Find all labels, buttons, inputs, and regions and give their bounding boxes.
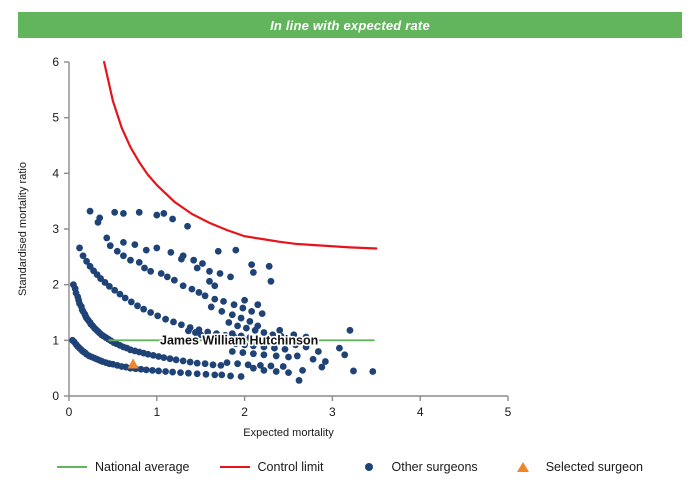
- scatter-point: [211, 296, 218, 303]
- scatter-point: [167, 249, 174, 256]
- scatter-point: [153, 245, 160, 252]
- scatter-point: [158, 270, 165, 277]
- scatter-point: [241, 297, 248, 304]
- green-line-icon: [57, 466, 87, 468]
- y-tick-label: 0: [52, 389, 59, 403]
- scatter-point: [147, 309, 154, 316]
- scatter-point: [177, 369, 184, 376]
- scatter-point: [171, 277, 178, 284]
- red-line-icon: [220, 466, 250, 468]
- scatter-point: [211, 371, 218, 378]
- selected-surgeon-marker[interactable]: [127, 358, 138, 368]
- legend-label-other-surgeons: Other surgeons: [392, 460, 478, 474]
- scatter-point: [210, 361, 217, 368]
- scatter-point: [369, 368, 376, 375]
- scatter-point: [248, 308, 255, 315]
- scatter-point: [215, 248, 222, 255]
- scatter-point: [162, 368, 169, 375]
- status-banner-label: In line with expected rate: [270, 18, 430, 33]
- scatter-point: [136, 209, 143, 216]
- scatter-point: [149, 367, 156, 374]
- scatter-point: [254, 301, 261, 308]
- scatter-point: [218, 371, 225, 378]
- scatter-point: [211, 282, 218, 289]
- control-limit-curve: [104, 62, 376, 248]
- scatter-point: [259, 310, 266, 317]
- scatter-point: [160, 210, 167, 217]
- scatter-point: [224, 359, 231, 366]
- scatter-point: [190, 257, 197, 264]
- scatter-point: [248, 261, 255, 268]
- scatter-point: [232, 247, 239, 254]
- legend-label-national-average: National average: [95, 460, 190, 474]
- x-tick-label: 5: [505, 405, 512, 419]
- scatter-point: [280, 363, 287, 370]
- x-tick-label: 3: [329, 405, 336, 419]
- annotation-label: James William Hutchinson: [160, 333, 318, 347]
- scatter-point: [220, 298, 227, 305]
- scatter-point: [208, 304, 215, 311]
- scatter-point: [87, 208, 94, 215]
- scatter-point: [238, 373, 245, 380]
- legend-item-control-limit[interactable]: Control limit: [220, 460, 324, 474]
- scatter-point: [250, 365, 257, 372]
- scatter-point: [134, 302, 141, 309]
- scatter-point: [261, 351, 268, 358]
- scatter-point: [180, 252, 187, 259]
- scatter-point: [296, 377, 303, 384]
- scatter-point: [128, 299, 135, 306]
- legend-label-control-limit: Control limit: [258, 460, 324, 474]
- selected-surgeon-triangle[interactable]: [127, 358, 138, 368]
- navy-dot-icon: [365, 463, 373, 471]
- x-axis-title: Expected mortality: [243, 427, 334, 439]
- scatter-point: [217, 270, 224, 277]
- scatter-point: [217, 362, 224, 369]
- control-limit-path: [104, 62, 376, 248]
- scatter-point: [294, 353, 301, 360]
- scatter-point: [160, 354, 167, 361]
- scatter-point: [155, 368, 162, 375]
- status-banner: In line with expected rate: [18, 12, 682, 38]
- x-tick-label: 0: [66, 405, 73, 419]
- scatter-point: [250, 269, 257, 276]
- funnel-plot-container: 0123456012345 Expected mortalityStandard…: [0, 44, 700, 444]
- scatter-point: [310, 356, 317, 363]
- scatter-point: [273, 353, 280, 360]
- scatter-point: [170, 319, 177, 326]
- scatter-point: [187, 359, 194, 366]
- scatter-point: [178, 321, 185, 328]
- scatter-point: [122, 295, 129, 302]
- scatter-point: [120, 210, 127, 217]
- scatter-point: [180, 358, 187, 365]
- scatter-point: [136, 259, 143, 266]
- scatter-point: [76, 245, 83, 252]
- scatter-point: [184, 223, 191, 230]
- scatter-point: [318, 364, 325, 371]
- scatter-point: [114, 248, 121, 255]
- scatter-point: [203, 371, 210, 378]
- scatter-point: [173, 356, 180, 363]
- x-tick-label: 2: [241, 405, 248, 419]
- scatter-point: [164, 273, 171, 280]
- orange-triangle-icon: [517, 462, 529, 472]
- scatter-point: [131, 241, 138, 248]
- legend-item-national-average[interactable]: National average: [57, 460, 190, 474]
- scatter-point: [268, 278, 275, 285]
- scatter-point: [238, 315, 245, 322]
- scatter-point: [107, 242, 114, 249]
- scatter-point: [194, 370, 201, 377]
- y-tick-label: 1: [52, 333, 59, 347]
- scatter-point: [103, 235, 110, 242]
- scatter-point: [153, 212, 160, 219]
- scatter-point: [185, 370, 192, 377]
- scatter-point: [120, 239, 127, 246]
- scatter-point: [250, 350, 257, 357]
- scatter-point: [347, 327, 354, 334]
- y-tick-label: 6: [52, 55, 59, 69]
- scatter-point: [127, 257, 134, 264]
- legend-item-selected-surgeon[interactable]: Selected surgeon: [508, 460, 643, 474]
- y-tick-label: 3: [52, 222, 59, 236]
- funnel-plot-svg: 0123456012345 Expected mortalityStandard…: [0, 44, 700, 444]
- scatter-point: [315, 348, 322, 355]
- scatter-point: [154, 312, 161, 319]
- scatter-point: [169, 369, 176, 376]
- scatter-point: [266, 263, 273, 270]
- scatter-point: [218, 308, 225, 315]
- scatter-point: [341, 351, 348, 358]
- scatter-point: [143, 247, 150, 254]
- scatter-point: [202, 360, 209, 367]
- legend-label-selected-surgeon: Selected surgeon: [546, 460, 643, 474]
- scatter-point: [147, 268, 154, 275]
- scatter-point: [239, 305, 246, 312]
- scatter-point: [239, 349, 246, 356]
- scatter-point: [273, 368, 280, 375]
- scatter-point: [180, 282, 187, 289]
- scatter-point: [194, 265, 201, 272]
- scatter-point: [246, 318, 253, 325]
- scatter-point: [206, 278, 213, 285]
- scatter-point: [162, 316, 169, 323]
- scatter-point: [268, 363, 275, 370]
- scatter-point: [111, 209, 118, 216]
- scatter-points: [69, 208, 376, 384]
- scatter-point: [336, 345, 343, 352]
- scatter-point: [231, 301, 238, 308]
- scatter-point: [196, 289, 203, 296]
- scatter-point: [285, 369, 292, 376]
- scatter-point: [167, 355, 174, 362]
- scatter-point: [141, 265, 148, 272]
- y-tick-label: 2: [52, 278, 59, 292]
- scatter-point: [96, 214, 103, 221]
- scatter-point: [225, 319, 232, 326]
- scatter-point: [189, 286, 196, 293]
- scatter-point: [285, 354, 292, 361]
- selected-surgeon-annotation: James William HutchinsonJames William Hu…: [160, 333, 318, 347]
- scatter-point: [202, 292, 209, 299]
- scatter-point: [299, 367, 306, 374]
- scatter-point: [169, 216, 176, 223]
- y-tick-label: 4: [52, 166, 59, 180]
- scatter-point: [194, 360, 201, 367]
- scatter-point: [234, 360, 241, 367]
- y-axis-title: Standardised mortality ratio: [17, 162, 29, 296]
- scatter-point: [206, 268, 213, 275]
- legend-item-other-surgeons[interactable]: Other surgeons: [354, 460, 478, 474]
- scatter-point: [227, 273, 234, 280]
- scatter-point: [234, 322, 241, 329]
- scatter-point: [261, 367, 268, 374]
- x-tick-label: 1: [153, 405, 160, 419]
- scatter-point: [227, 373, 234, 380]
- scatter-point: [254, 322, 261, 329]
- scatter-point: [140, 306, 147, 313]
- y-tick-label: 5: [52, 111, 59, 125]
- scatter-point: [120, 252, 127, 259]
- chart-legend: National average Control limit Other sur…: [0, 452, 700, 482]
- scatter-point: [350, 368, 357, 375]
- scatter-point: [229, 311, 236, 318]
- scatter-point: [199, 260, 206, 267]
- scatter-point: [229, 348, 236, 355]
- scatter-point: [143, 366, 150, 373]
- x-tick-label: 4: [417, 405, 424, 419]
- scatter-point: [243, 325, 250, 332]
